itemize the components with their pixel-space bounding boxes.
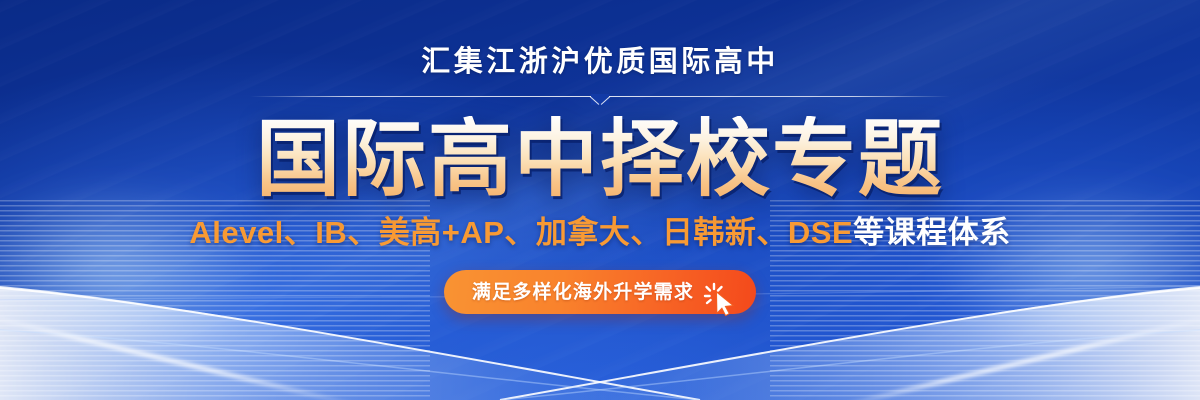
banner-course-list: Alevel、IB、美高+AP、加拿大、日韩新、DSE等课程体系 [189,217,1010,248]
click-cursor-icon [702,278,742,318]
course-list-tail: 等课程体系 [853,215,1011,250]
divider-notch-icon [591,94,609,105]
banner-content: 汇集江浙沪优质国际高中 国际高中择校专题 Alevel、IB、美高+AP、加拿大… [0,0,1200,400]
course-list-highlight: Alevel、IB、美高+AP、加拿大、日韩新、DSE [189,215,853,250]
promo-banner: 汇集江浙沪优质国际高中 国际高中择校专题 Alevel、IB、美高+AP、加拿大… [0,0,1200,400]
decorative-divider [250,94,950,108]
banner-eyebrow: 汇集江浙沪优质国际高中 [421,48,779,77]
cta-button[interactable]: 满足多样化海外升学需求 [444,270,756,314]
cta-container: 满足多样化海外升学需求 [444,270,756,314]
cta-button-label: 满足多样化海外升学需求 [472,283,728,302]
banner-headline: 国际高中择校专题 [256,116,944,203]
